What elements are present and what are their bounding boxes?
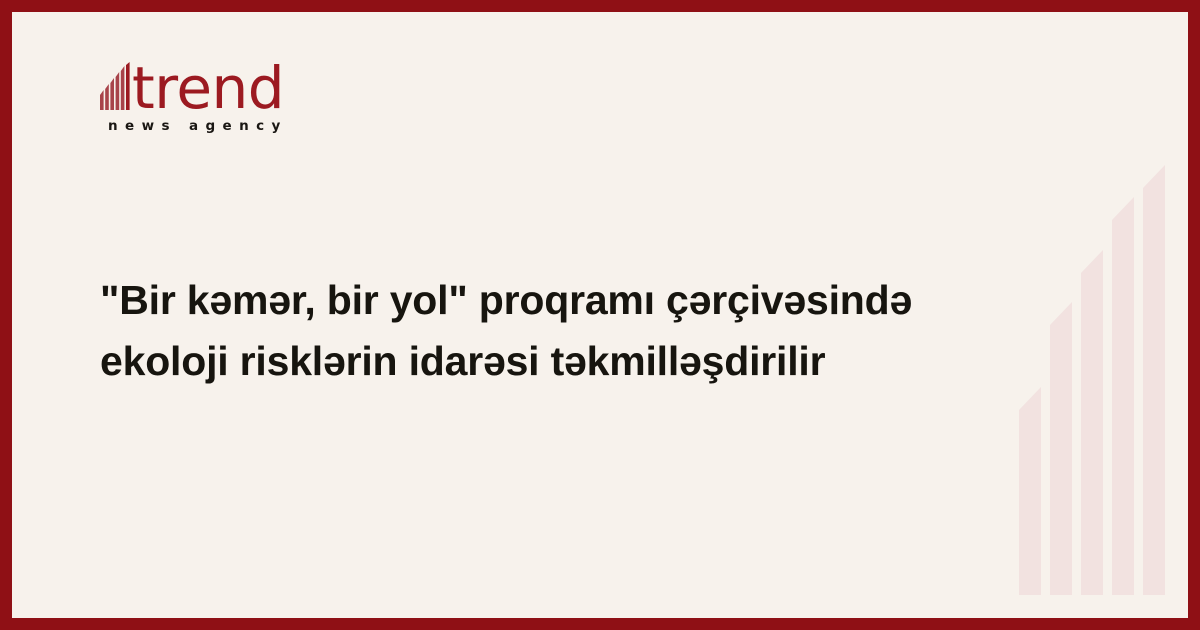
logo-tagline: news agency: [108, 118, 360, 134]
logo-wordmark: trend: [132, 64, 284, 112]
logo-row: trend: [100, 50, 360, 112]
trend-bars-logo-icon: [100, 62, 130, 110]
rising-bars-watermark-icon: [1015, 165, 1175, 595]
social-share-card: trend news agency "Bir kəmər, bir yol" p…: [0, 0, 1200, 630]
brand-logo[interactable]: trend news agency: [100, 50, 360, 134]
headline-text: "Bir kəmər, bir yol" proqramı çərçivəsin…: [100, 270, 1000, 391]
